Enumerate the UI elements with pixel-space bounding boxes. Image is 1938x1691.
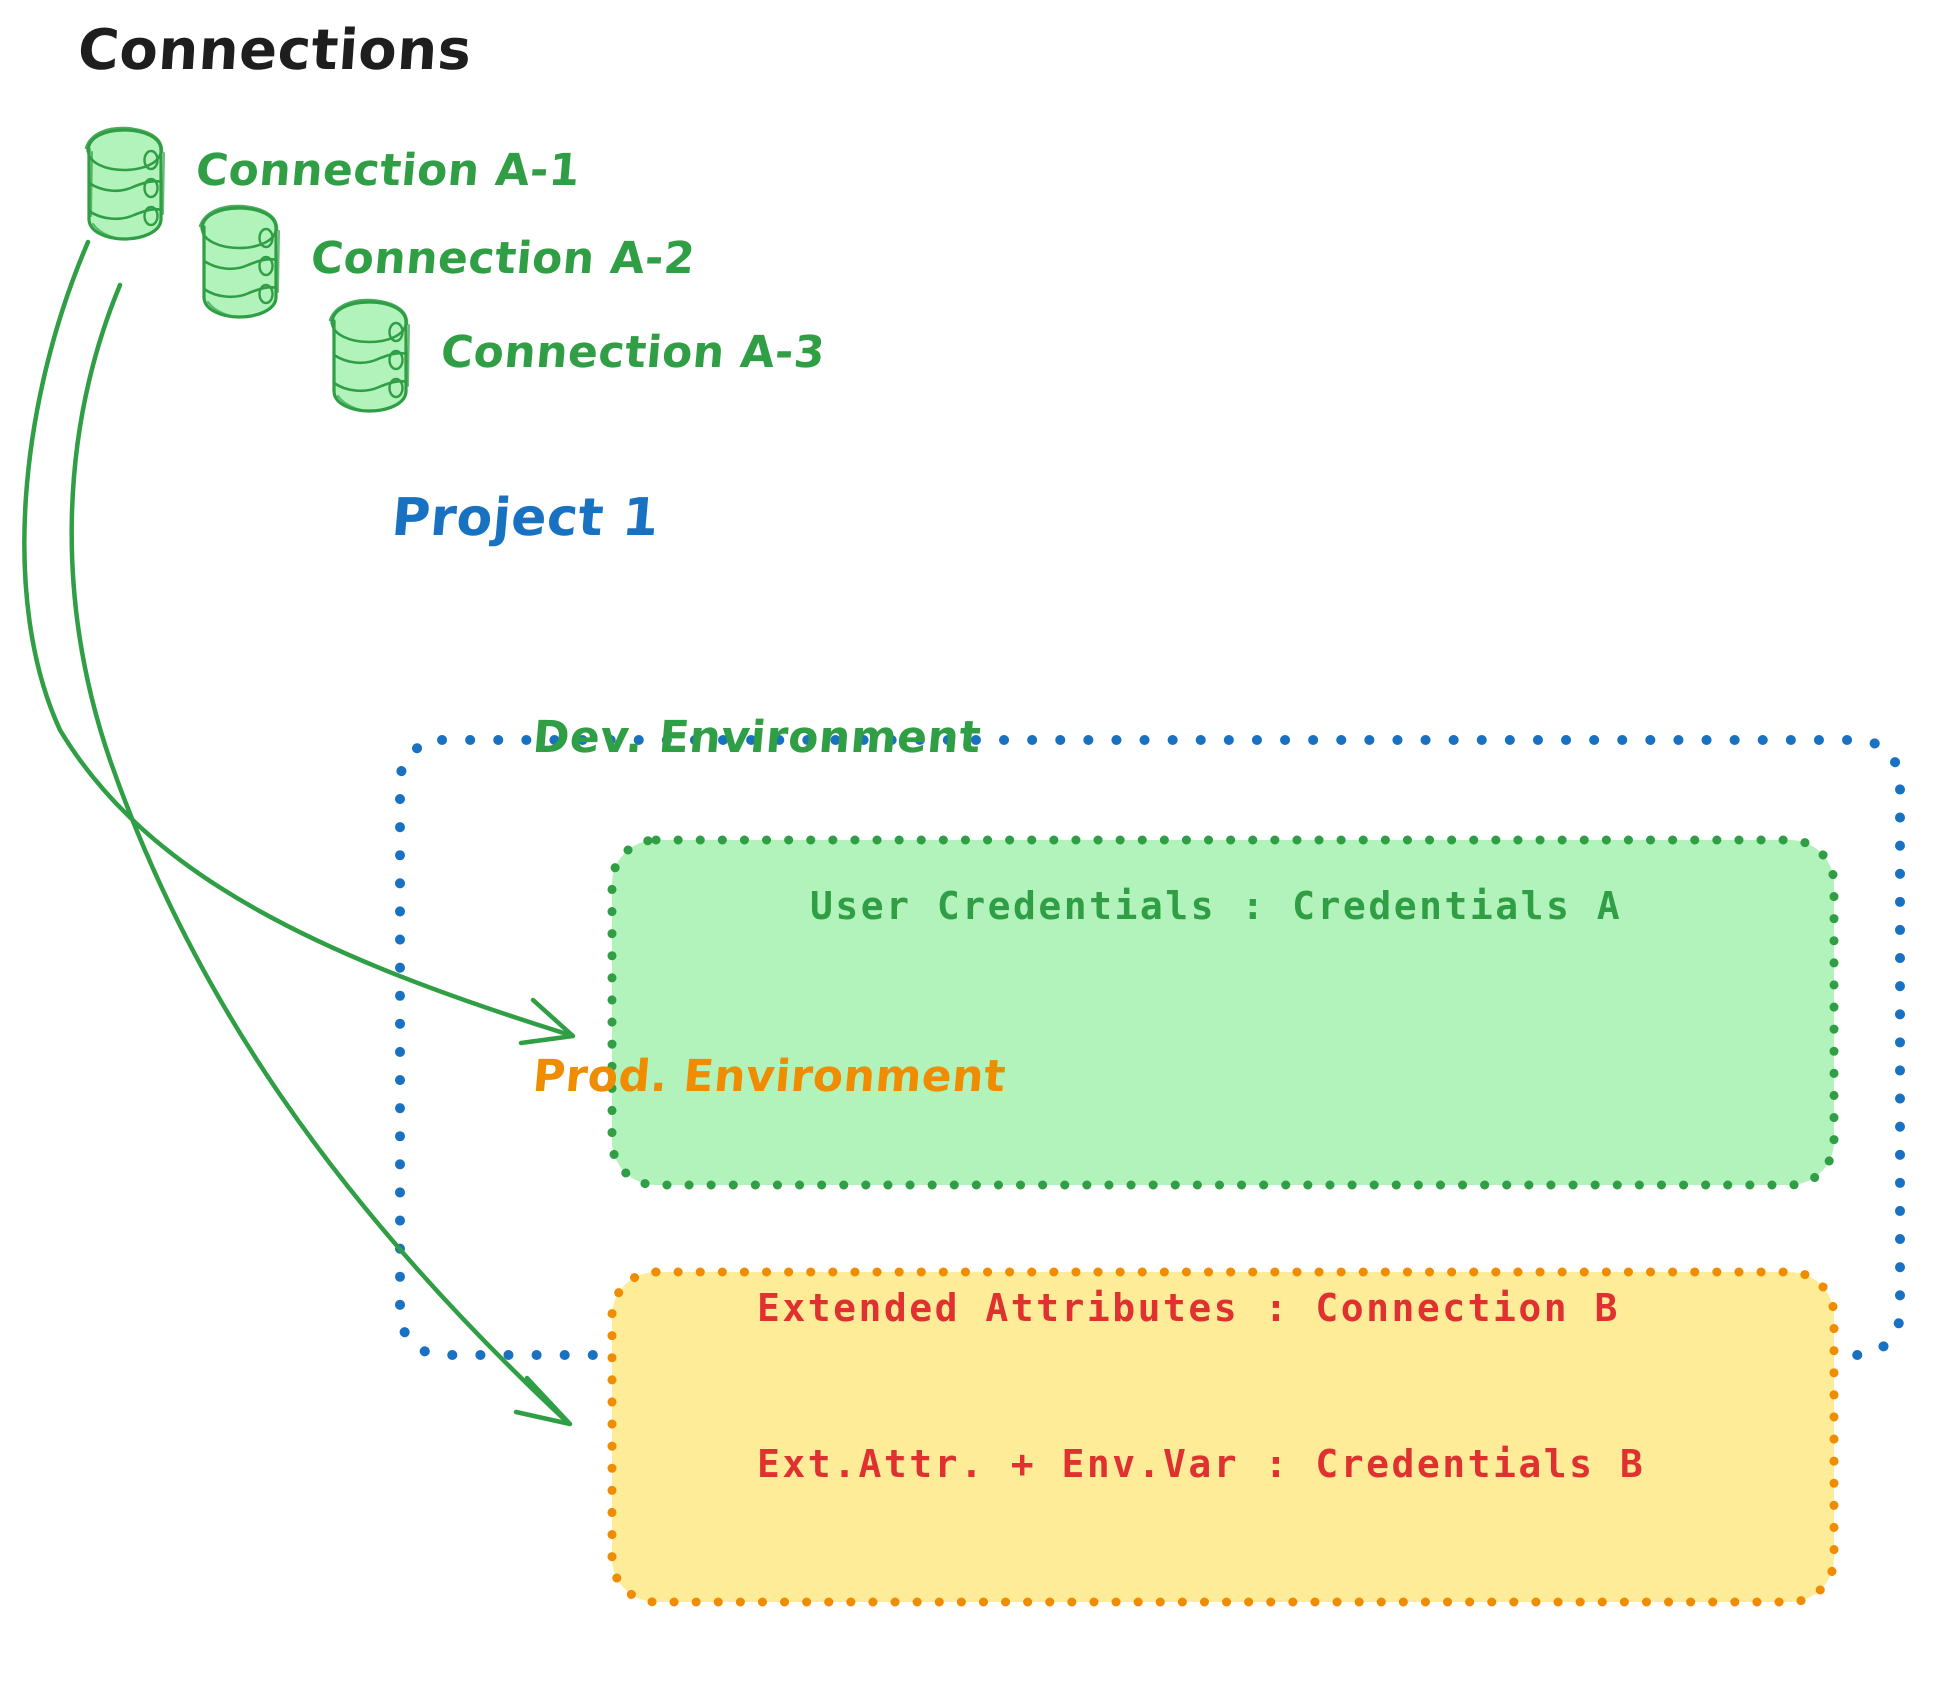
prod-environment-entries: Extended Attributes : Connection B Ext.A… (757, 1178, 1645, 1542)
dev-environment-title: Dev. Environment (531, 712, 983, 763)
connection-label-a2: Connection A-2 (309, 233, 697, 284)
project-title: Project 1 (389, 488, 661, 548)
database-cylinder-icon-a1[interactable] (86, 128, 164, 239)
arrow-connection-a1-to-prod (72, 285, 570, 1424)
connection-label-a1: Connection A-1 (194, 145, 582, 196)
prod-environment-entry-extended-attributes: Extended Attributes : Connection B (757, 1282, 1645, 1334)
page-title: Connections (76, 18, 474, 83)
database-cylinder-icon-a3[interactable] (330, 300, 409, 411)
prod-environment-entry-ext-attr-env-var: Ext.Attr. + Env.Var : Credentials B (757, 1438, 1645, 1490)
connection-label-a3: Connection A-3 (439, 327, 827, 378)
database-cylinder-icon-a2[interactable] (200, 206, 279, 317)
dev-environment-entry-user-credentials: User Credentials : Credentials A (810, 884, 1622, 928)
prod-environment-title: Prod. Environment (531, 1051, 1008, 1102)
